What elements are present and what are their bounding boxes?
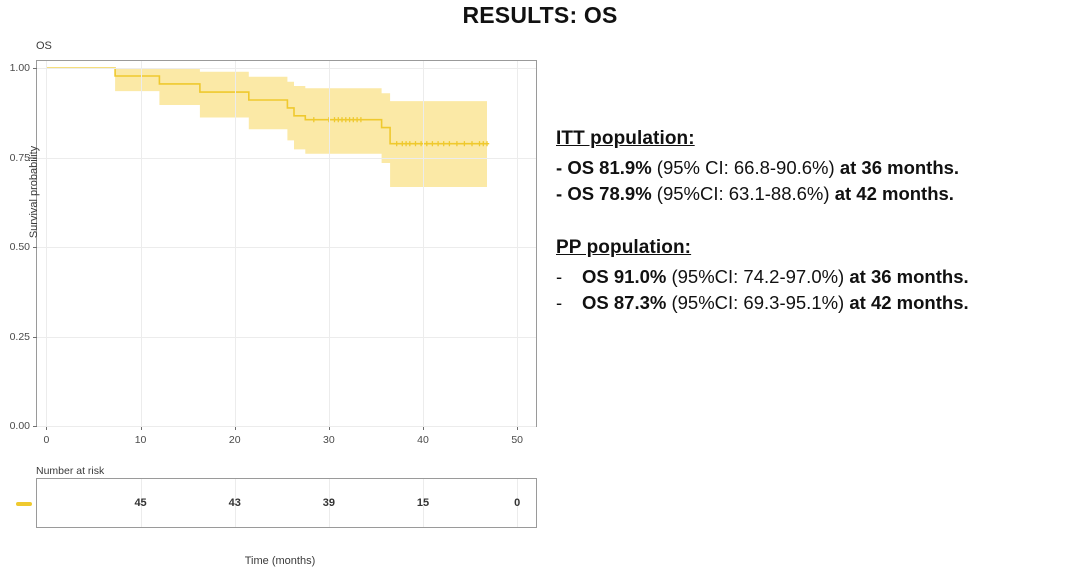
y-tick-mark xyxy=(33,426,37,427)
risk-count: 39 xyxy=(323,497,335,509)
itt-line-2-ci: (95%CI: 63.1-88.6%) xyxy=(657,183,830,204)
pp-line-1-dash: - xyxy=(556,264,582,290)
itt-line-2: - OS 78.9% (95%CI: 63.1-88.6%) at 42 mon… xyxy=(556,181,1072,207)
itt-line-2-tail: at 42 months. xyxy=(835,183,954,204)
itt-line-1: - OS 81.9% (95% CI: 66.8-90.6%) at 36 mo… xyxy=(556,155,1072,181)
y-gridline xyxy=(37,247,536,248)
itt-section: ITT population: - OS 81.9% (95% CI: 66.8… xyxy=(556,128,1072,207)
y-tick-mark xyxy=(33,68,37,69)
y-tick-label: 0.75 xyxy=(10,152,30,164)
x-axis-label-holder: Time (months) xyxy=(0,555,560,567)
risk-count: 0 xyxy=(514,497,520,509)
itt-line-1-dash: - xyxy=(556,157,562,178)
y-tick-label: 0.25 xyxy=(10,331,30,343)
confidence-band xyxy=(46,68,487,187)
y-tick-label: 0.00 xyxy=(10,420,30,432)
x-gridline xyxy=(46,61,47,426)
itt-line-2-value: OS 78.9% xyxy=(567,183,651,204)
y-gridline xyxy=(37,337,536,338)
itt-line-1-ci: (95% CI: 66.8-90.6%) xyxy=(657,157,835,178)
x-tick-label: 40 xyxy=(417,434,429,446)
pp-line-2: - OS 87.3% (95%CI: 69.3-95.1%) at 42 mon… xyxy=(556,290,1072,316)
itt-line-1-value: OS 81.9% xyxy=(567,157,651,178)
slide-root: RESULTS: OS OS 010203040500.000.250.500.… xyxy=(0,0,1080,531)
x-gridline xyxy=(141,61,142,426)
x-gridline xyxy=(235,61,236,426)
pp-line-2-ci: (95%CI: 69.3-95.1%) xyxy=(671,292,844,313)
y-gridline xyxy=(37,158,536,159)
x-gridline xyxy=(329,61,330,426)
x-tick-label: 10 xyxy=(135,434,147,446)
itt-heading: ITT population: xyxy=(556,128,1072,150)
itt-line-2-dash: - xyxy=(556,183,562,204)
pp-line-2-tail: at 42 months. xyxy=(849,292,968,313)
x-gridline xyxy=(517,61,518,426)
pp-line-1: - OS 91.0% (95%CI: 74.2-97.0%) at 36 mon… xyxy=(556,264,1072,290)
risk-table: 454339150 xyxy=(36,478,537,528)
risk-table-title: Number at risk xyxy=(36,465,104,477)
pp-line-1-value: OS 91.0% xyxy=(582,266,666,287)
pp-line-1-content: OS 91.0% (95%CI: 74.2-97.0%) at 36 month… xyxy=(582,264,969,290)
pp-line-1-tail: at 36 months. xyxy=(849,266,968,287)
pp-line-1-ci: (95%CI: 74.2-97.0%) xyxy=(671,266,844,287)
km-curve-svg xyxy=(37,61,536,426)
y-tick-label: 0.50 xyxy=(10,241,30,253)
legend-color-dash-icon xyxy=(16,502,32,506)
plot-panel: 010203040500.000.250.500.751.00 xyxy=(36,60,537,427)
pp-line-2-dash: - xyxy=(556,290,582,316)
y-axis-label: Survival probability xyxy=(28,112,40,272)
y-tick-label: 1.00 xyxy=(10,62,30,74)
results-text-block: ITT population: - OS 81.9% (95% CI: 66.8… xyxy=(556,128,1072,316)
risk-count: 43 xyxy=(229,497,241,509)
x-tick-label: 20 xyxy=(229,434,241,446)
itt-line-1-tail: at 36 months. xyxy=(840,157,959,178)
x-tick-label: 0 xyxy=(43,434,49,446)
figure-tag-label: OS xyxy=(36,40,52,52)
x-gridline xyxy=(423,61,424,426)
pp-line-2-content: OS 87.3% (95%CI: 69.3-95.1%) at 42 month… xyxy=(582,290,969,316)
y-gridline xyxy=(37,68,536,69)
pp-line-2-value: OS 87.3% xyxy=(582,292,666,313)
page-title: RESULTS: OS xyxy=(0,2,1080,29)
pp-section: PP population: - OS 91.0% (95%CI: 74.2-9… xyxy=(556,237,1072,316)
y-gridline xyxy=(37,426,536,427)
x-tick-label: 30 xyxy=(323,434,335,446)
risk-count: 15 xyxy=(417,497,429,509)
pp-heading: PP population: xyxy=(556,237,1072,259)
survival-figure: OS 010203040500.000.250.500.751.00 Survi… xyxy=(0,36,560,531)
y-tick-mark xyxy=(33,337,37,338)
risk-count: 45 xyxy=(134,497,146,509)
x-tick-label: 50 xyxy=(511,434,523,446)
